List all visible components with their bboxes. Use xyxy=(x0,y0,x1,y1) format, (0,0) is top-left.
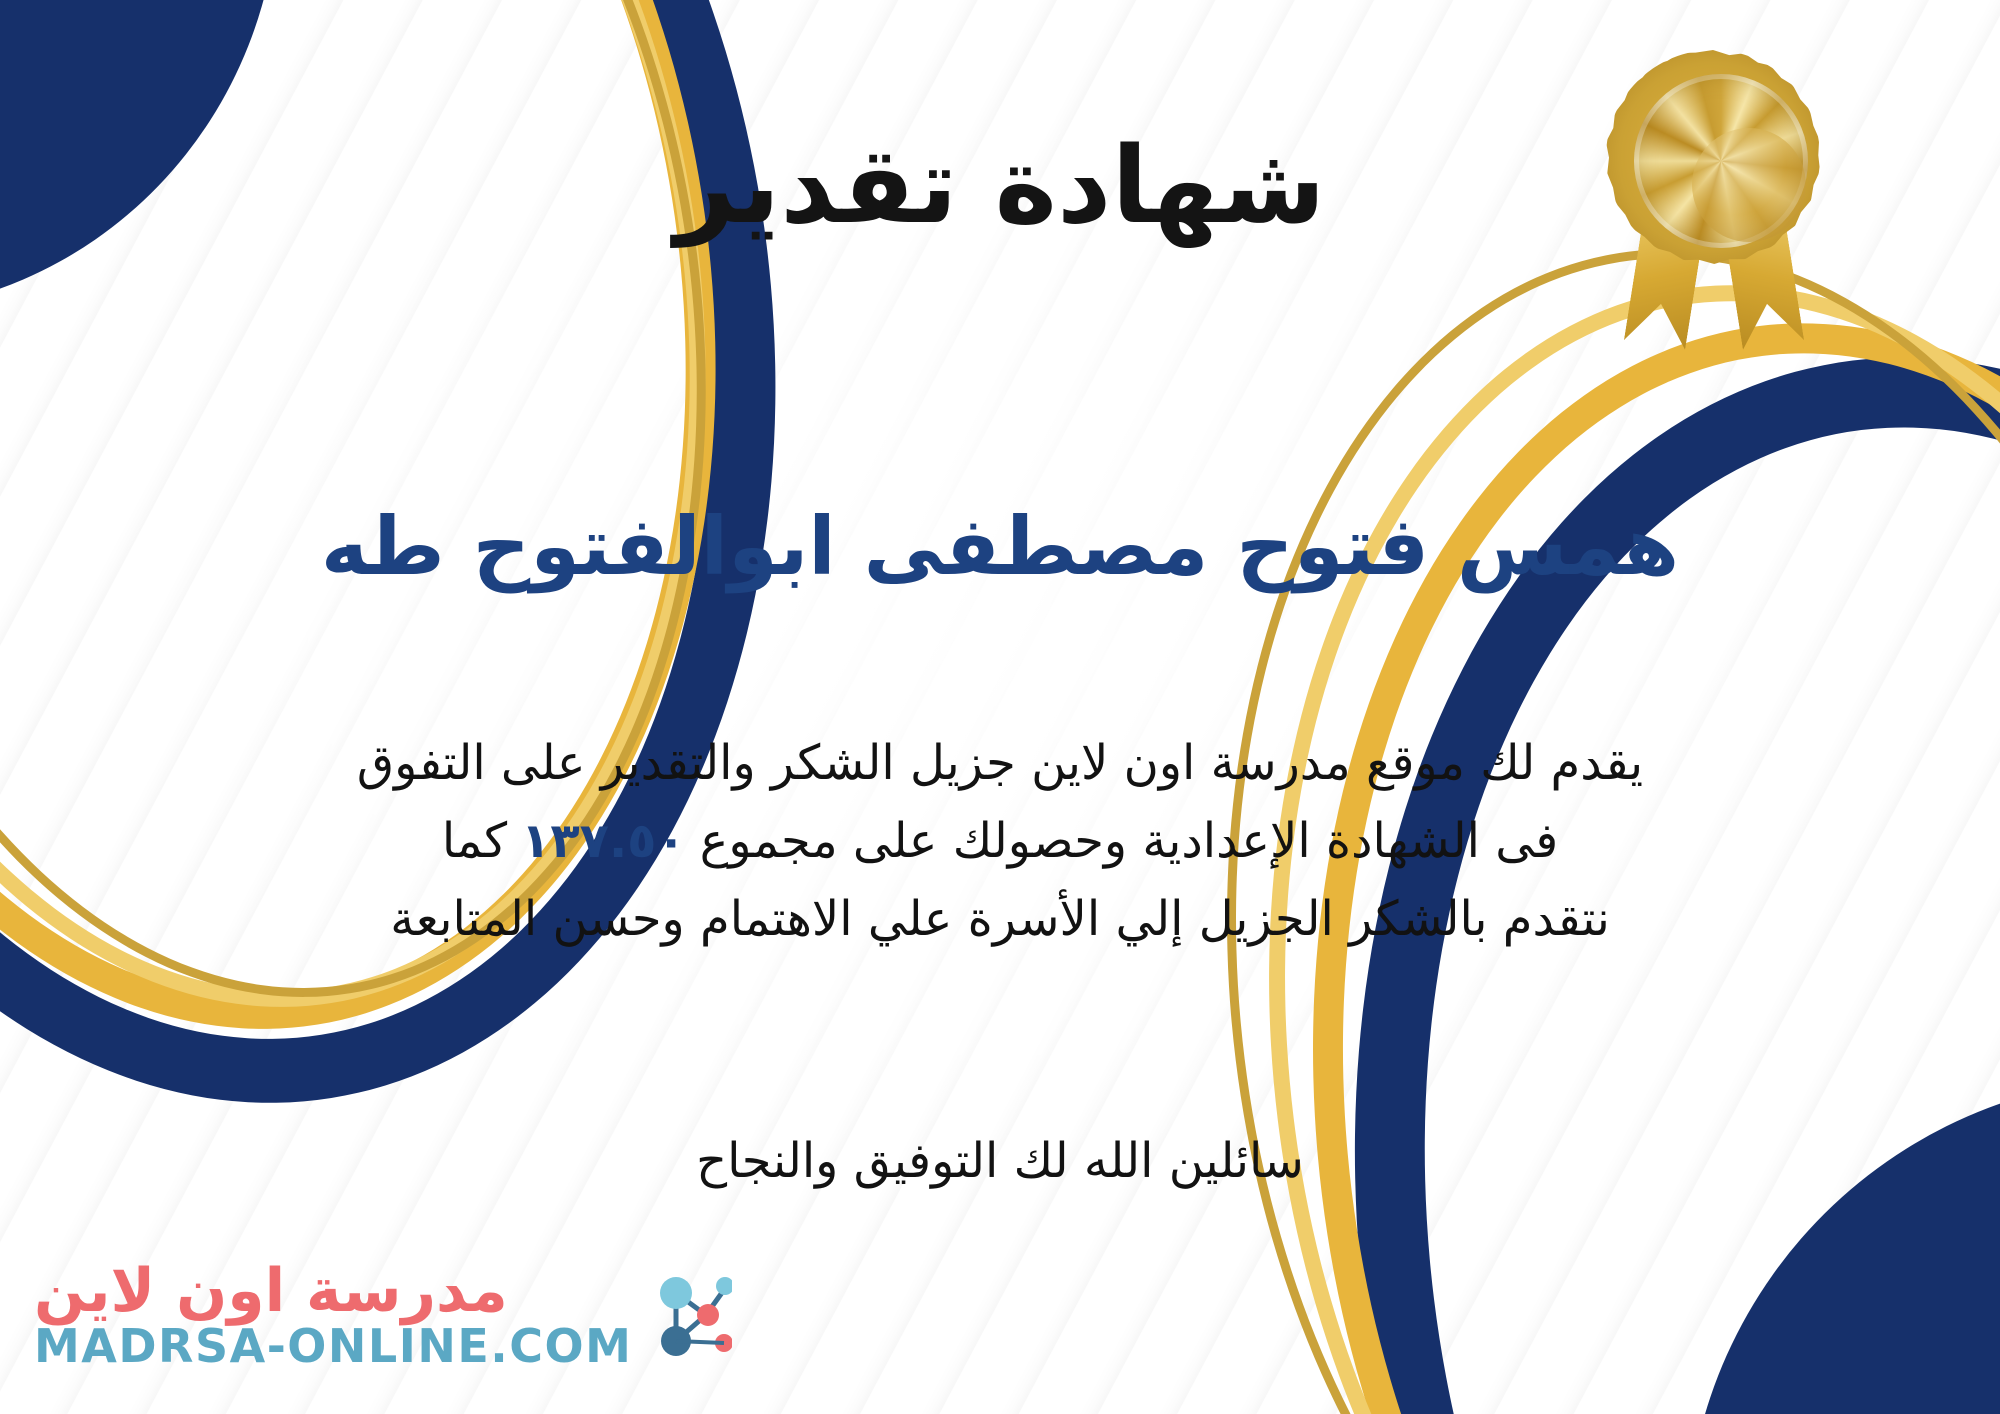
logo-website-url: MADRSA-ONLINE.COM xyxy=(34,1322,632,1370)
body-line-2-suffix: كما xyxy=(442,813,507,869)
recipient-name: همس فتوح مصطفى ابوالفتوح طه xyxy=(0,500,2000,594)
page-title: شهادة تقدير xyxy=(0,128,2000,245)
body-line-3: نتقدم بالشكر الجزيل إلي الأسرة علي الاهت… xyxy=(200,881,1800,959)
logo-text-group: مدرسة اون لاين MADRSA-ONLINE.COM xyxy=(34,1261,632,1370)
closing-wish: سائلين الله لك التوفيق والنجاح xyxy=(0,1125,2000,1197)
body-line-2-prefix: فى الشهادة الإعدادية وحصولك على مجموع xyxy=(700,813,1558,869)
network-nodes-logo-icon xyxy=(646,1267,732,1363)
logo-arabic-name: مدرسة اون لاين xyxy=(34,1261,508,1322)
certificate-content: شهادة تقدير همس فتوح مصطفى ابوالفتوح طه … xyxy=(0,0,2000,1414)
site-logo[interactable]: مدرسة اون لاين MADRSA-ONLINE.COM xyxy=(34,1261,732,1370)
body-line-2: فى الشهادة الإعدادية وحصولك على مجموع١٣٧… xyxy=(200,803,1800,881)
certificate-canvas: شهادة تقدير همس فتوح مصطفى ابوالفتوح طه … xyxy=(0,0,2000,1414)
certificate-body: يقدم لك موقع مدرسة اون لاين جزيل الشكر و… xyxy=(200,725,1800,958)
body-line-1: يقدم لك موقع مدرسة اون لاين جزيل الشكر و… xyxy=(200,725,1800,803)
grade-total-value: ١٣٧.٥٠ xyxy=(507,813,700,869)
